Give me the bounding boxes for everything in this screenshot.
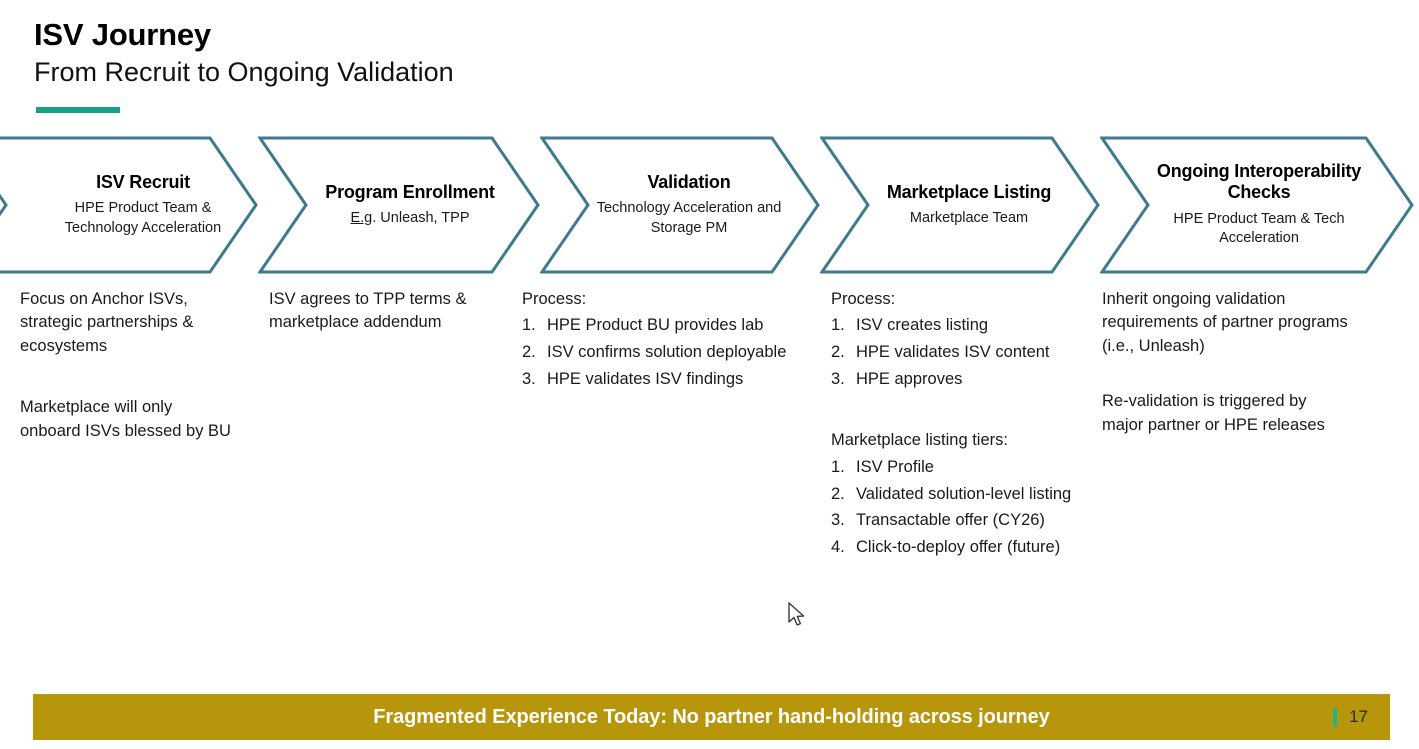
chevron-stage-2-subtitle-prefix: E.g bbox=[350, 210, 372, 226]
column-validation-group-1-heading: Process: bbox=[522, 288, 822, 311]
list-item: 2.ISV confirms solution deployable bbox=[522, 341, 822, 365]
chevron-stage-2-subtitle: E.g. Unleash, TPP bbox=[350, 209, 469, 229]
list-item-text: HPE Product BU provides lab bbox=[547, 316, 763, 334]
column-marketplace-group-2: Marketplace listing tiers: 1.ISV Profile… bbox=[831, 429, 1116, 560]
chevron-stage-5-subtitle: HPE Product Team & Tech Acceleration bbox=[1134, 210, 1384, 249]
column-marketplace-group-2-heading: Marketplace listing tiers: bbox=[831, 429, 1116, 452]
column-isv-recruit: Focus on Anchor ISVs, strategic partners… bbox=[20, 288, 255, 443]
list-item: 3.HPE validates ISV findings bbox=[522, 368, 822, 392]
list-item-number: 3. bbox=[522, 368, 536, 392]
list-item-text: Validated solution-level listing bbox=[856, 485, 1071, 503]
chevron-stage-2-subtitle-rest: . Unleash, TPP bbox=[372, 210, 469, 226]
column-marketplace-group-2-list: 1.ISV Profile 2.Validated solution-level… bbox=[831, 456, 1116, 561]
title-block: ISV Journey From Recruit to Ongoing Vali… bbox=[34, 18, 734, 88]
page-indicator: 17 bbox=[1333, 694, 1368, 740]
list-item-text: ISV Profile bbox=[856, 458, 934, 476]
column-isv-recruit-para-2: Marketplace will only onboard ISVs bless… bbox=[20, 396, 255, 443]
list-item: 2.HPE validates ISV content bbox=[831, 341, 1116, 365]
column-program-enrollment: ISV agrees to TPP terms & marketplace ad… bbox=[269, 288, 509, 335]
chevron-stage-2-text: Program Enrollment E.g. Unleash, TPP bbox=[310, 136, 510, 274]
column-isv-recruit-para-1: Focus on Anchor ISVs, strategic partners… bbox=[20, 288, 255, 358]
list-item: 3.HPE approves bbox=[831, 368, 1116, 392]
column-ongoing-interop-para-2: Re-validation is triggered by major part… bbox=[1102, 390, 1392, 437]
list-item-text: ISV creates listing bbox=[856, 316, 988, 334]
column-validation-group-1: Process: 1.HPE Product BU provides lab 2… bbox=[522, 288, 822, 392]
chevron-stage-3-subtitle: Technology Acceleration and Storage PM bbox=[580, 199, 798, 238]
chevron-stage-1-subtitle: HPE Product Team & Technology Accelerati… bbox=[50, 199, 236, 238]
list-item: 1.HPE Product BU provides lab bbox=[522, 314, 822, 338]
list-item-number: 1. bbox=[522, 314, 536, 338]
bottom-banner: Fragmented Experience Today: No partner … bbox=[33, 694, 1390, 740]
chevron-stage-5-title: Ongoing Interoperability Checks bbox=[1157, 161, 1361, 203]
chevron-stage-3-text: Validation Technology Acceleration and S… bbox=[580, 136, 798, 274]
chevron-stage-4-title: Marketplace Listing bbox=[887, 182, 1051, 203]
list-item: 1.ISV Profile bbox=[831, 456, 1116, 480]
chevron-stage-1-title: ISV Recruit bbox=[96, 172, 190, 193]
detail-columns: Focus on Anchor ISVs, strategic partners… bbox=[0, 288, 1419, 648]
list-item-text: Transactable offer (CY26) bbox=[856, 511, 1045, 529]
list-item-number: 3. bbox=[831, 368, 845, 392]
list-item: 1.ISV creates listing bbox=[831, 314, 1116, 338]
column-program-enrollment-para-1: ISV agrees to TPP terms & marketplace ad… bbox=[269, 288, 509, 335]
list-item: 2.Validated solution-level listing bbox=[831, 483, 1116, 507]
chevron-stage-5-text: Ongoing Interoperability Checks HPE Prod… bbox=[1134, 136, 1384, 274]
list-item-number: 1. bbox=[831, 314, 845, 338]
list-item: 4.Click-to-deploy offer (future) bbox=[831, 536, 1116, 560]
column-validation-group-1-list: 1.HPE Product BU provides lab 2.ISV conf… bbox=[522, 314, 822, 392]
process-chevron-band: ISV Recruit HPE Product Team & Technolog… bbox=[0, 136, 1419, 274]
slide-canvas: ISV Journey From Recruit to Ongoing Vali… bbox=[0, 0, 1419, 749]
column-ongoing-interop-para-1: Inherit ongoing validation requirements … bbox=[1102, 288, 1392, 358]
list-item-number: 2. bbox=[831, 341, 845, 365]
column-marketplace-group-1: Process: 1.ISV creates listing 2.HPE val… bbox=[831, 288, 1116, 392]
list-item-number: 1. bbox=[831, 456, 845, 480]
list-item-number: 4. bbox=[831, 536, 845, 560]
chevron-stage-3-title: Validation bbox=[647, 172, 730, 193]
chevron-stage-1-text: ISV Recruit HPE Product Team & Technolog… bbox=[50, 136, 236, 274]
page-title: ISV Journey bbox=[34, 18, 734, 53]
chevron-stage-4-subtitle: Marketplace Team bbox=[910, 209, 1028, 229]
list-item-text: Click-to-deploy offer (future) bbox=[856, 538, 1060, 556]
column-marketplace-listing: Process: 1.ISV creates listing 2.HPE val… bbox=[831, 288, 1116, 560]
page-subtitle: From Recruit to Ongoing Validation bbox=[34, 56, 734, 88]
page-accent-bar-icon bbox=[1333, 708, 1337, 727]
column-validation: Process: 1.HPE Product BU provides lab 2… bbox=[522, 288, 822, 392]
list-item-number: 2. bbox=[522, 341, 536, 365]
list-item-text: HPE validates ISV content bbox=[856, 343, 1050, 361]
column-marketplace-group-1-list: 1.ISV creates listing 2.HPE validates IS… bbox=[831, 314, 1116, 392]
page-number: 17 bbox=[1349, 707, 1368, 727]
list-item-text: ISV confirms solution deployable bbox=[547, 343, 786, 361]
list-item-number: 3. bbox=[831, 509, 845, 533]
list-item-text: HPE approves bbox=[856, 370, 962, 388]
column-ongoing-interop: Inherit ongoing validation requirements … bbox=[1102, 288, 1392, 437]
column-marketplace-group-1-heading: Process: bbox=[831, 288, 1116, 311]
list-item-number: 2. bbox=[831, 483, 845, 507]
list-item-text: HPE validates ISV findings bbox=[547, 370, 743, 388]
chevron-stage-2-title: Program Enrollment bbox=[325, 182, 494, 203]
banner-text: Fragmented Experience Today: No partner … bbox=[373, 706, 1049, 729]
chevron-stage-4-text: Marketplace Listing Marketplace Team bbox=[860, 136, 1078, 274]
list-item: 3.Transactable offer (CY26) bbox=[831, 509, 1116, 533]
title-accent-bar bbox=[36, 107, 120, 113]
